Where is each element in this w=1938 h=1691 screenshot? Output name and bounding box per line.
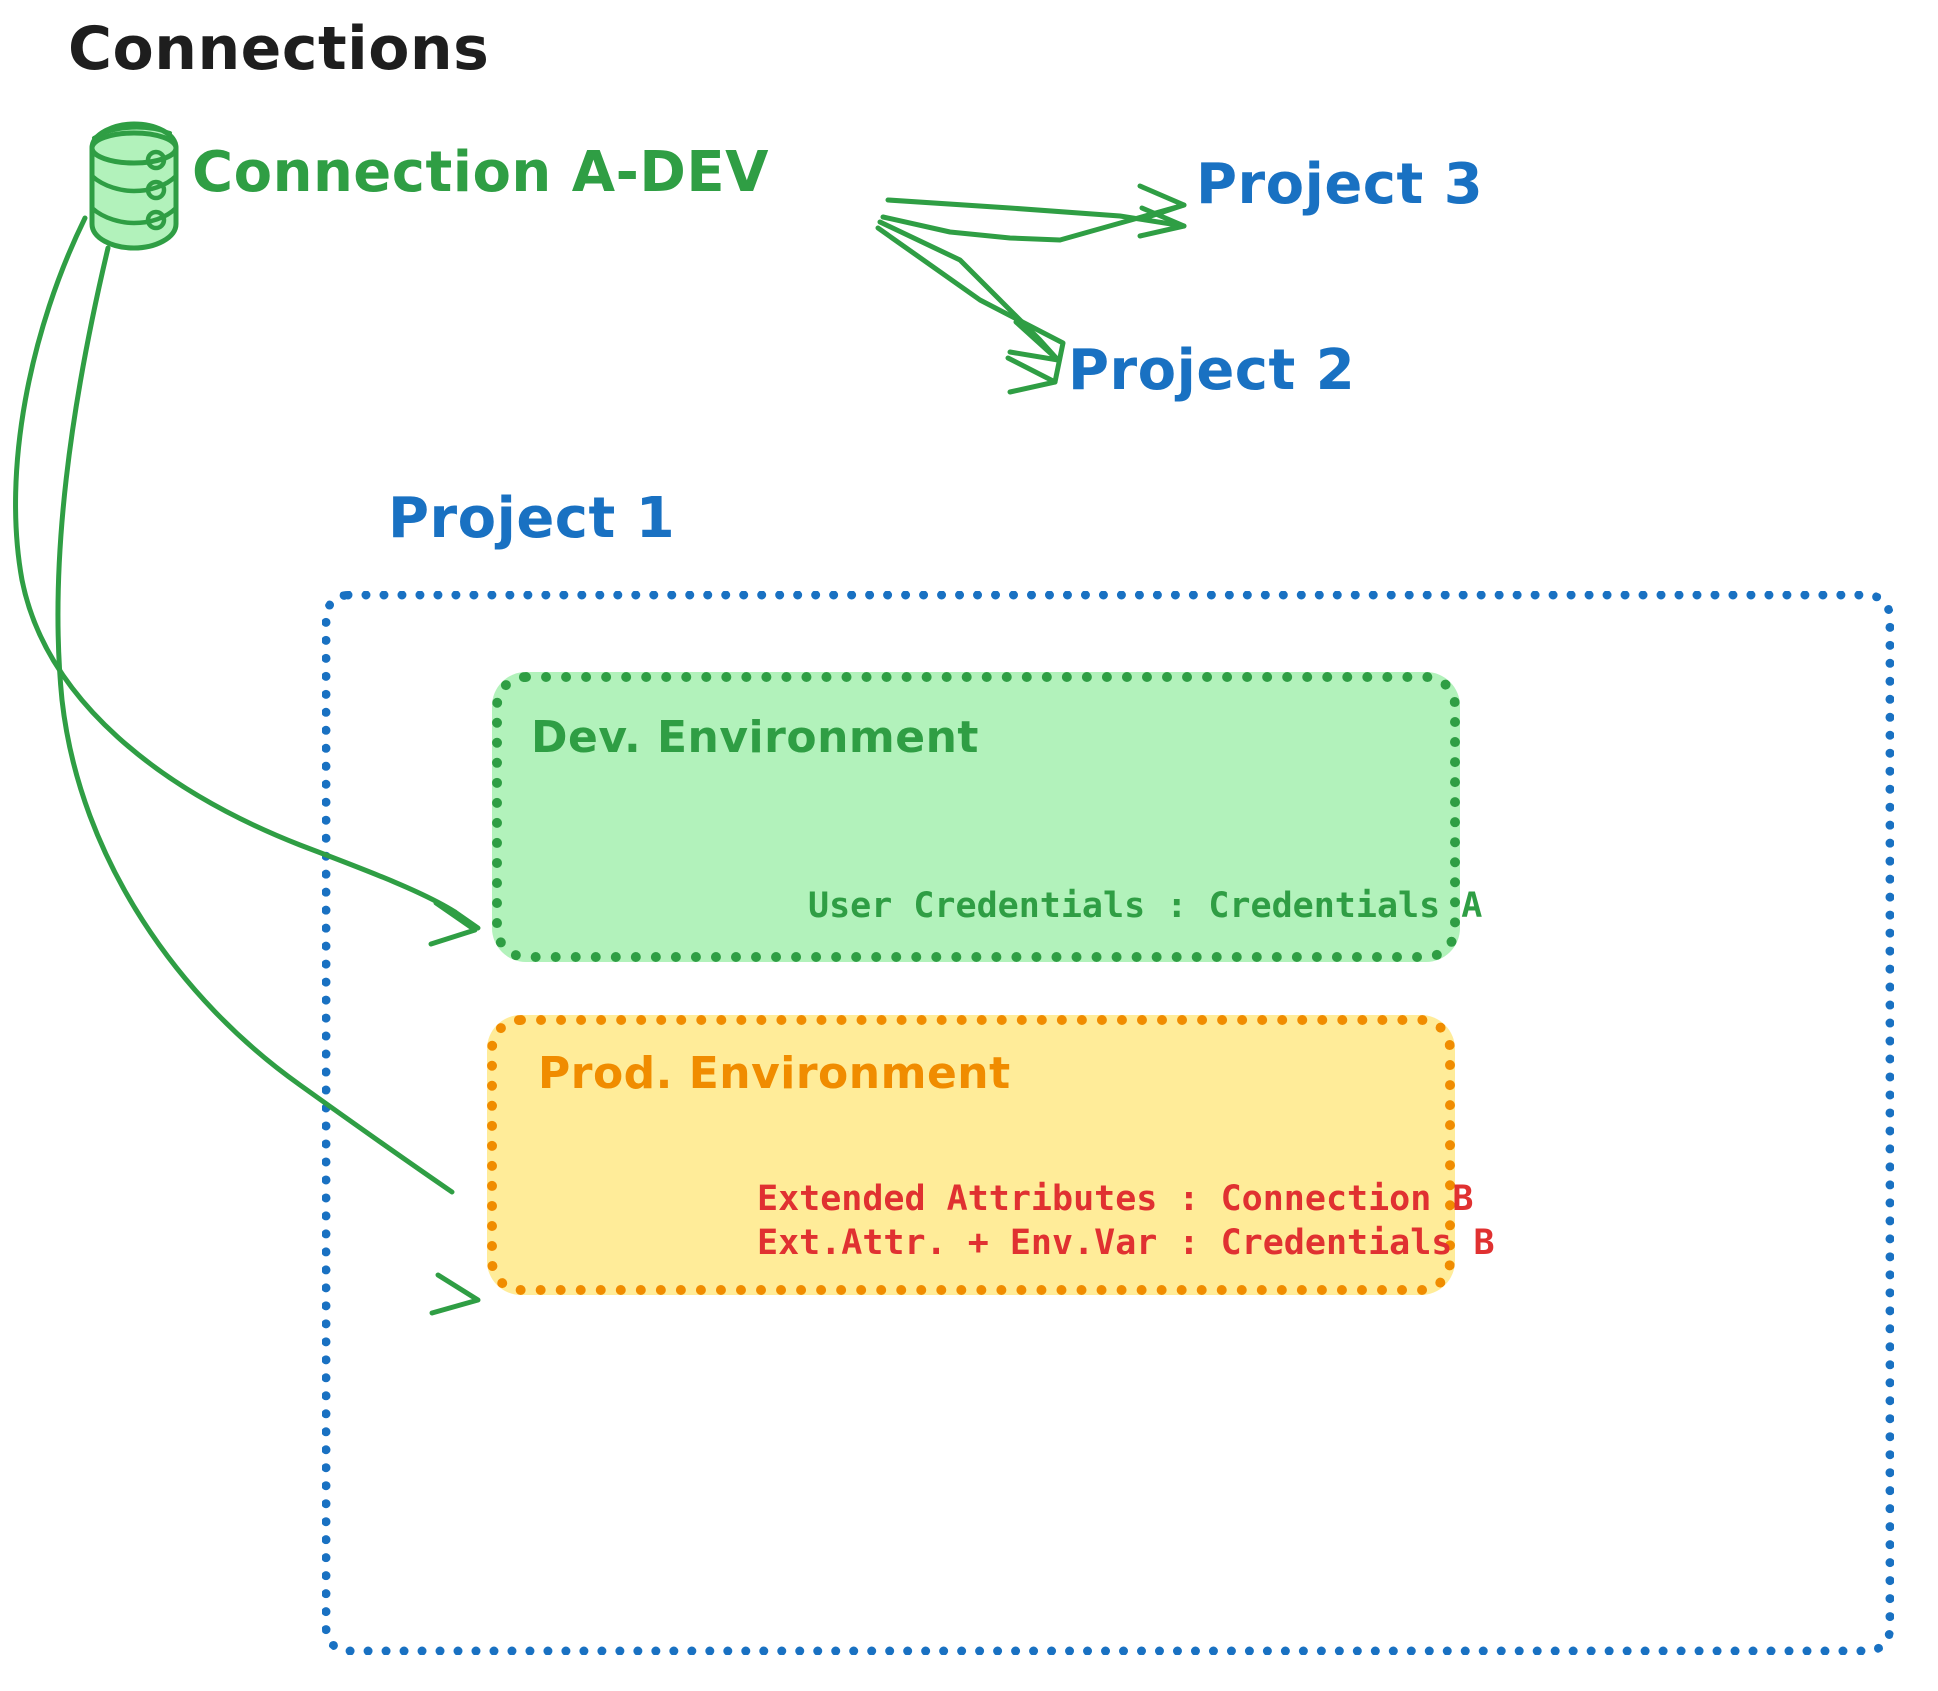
arrow-conn-to-project2-b (878, 228, 1063, 392)
arrow-conn-to-project2-a (880, 222, 1058, 360)
project-1-label: Project 1 (388, 486, 675, 552)
arrow-conn-to-project3-b (883, 186, 1184, 240)
prod-environment-title: Prod. Environment (538, 1048, 1011, 1100)
page-title: Connections (68, 14, 489, 85)
arrow-conn-to-project3-a (888, 200, 1184, 236)
dev-environment-title: Dev. Environment (531, 712, 979, 764)
project-2-label: Project 2 (1068, 338, 1355, 404)
prod-environment-details: Extended Attributes : Connection B Ext.A… (757, 1178, 1495, 1266)
dev-environment-details: User Credentials : Credentials A (808, 885, 1482, 929)
connection-label: Connection A-DEV (192, 140, 769, 206)
database-cylinder-icon (92, 124, 176, 248)
diagram-canvas: Connections Connection A-DEV (0, 0, 1938, 1691)
project-3-label: Project 3 (1196, 152, 1483, 218)
